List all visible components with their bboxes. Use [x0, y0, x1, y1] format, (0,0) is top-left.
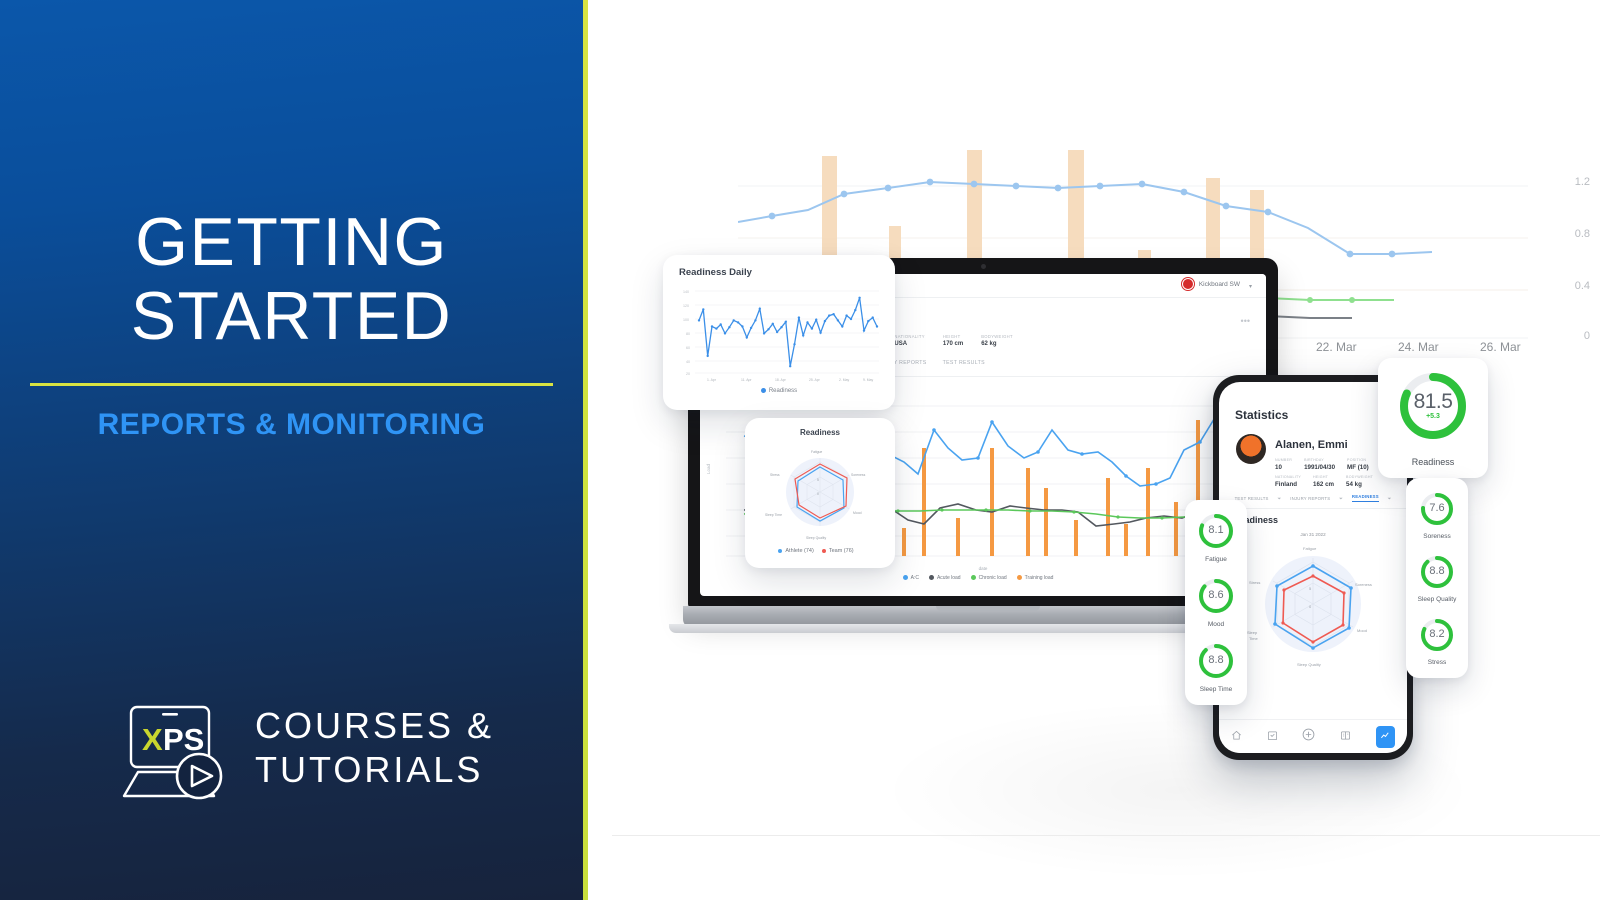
svg-text:140: 140 [683, 290, 689, 294]
readiness-daily-legend: Readiness [663, 388, 895, 394]
svg-text:Stress: Stress [770, 473, 780, 477]
legend-label: Chronic load [979, 575, 1007, 581]
athlete-meta-key: BODYWEIGHT [981, 334, 1013, 339]
lock-icon: ⏷ [1388, 496, 1392, 501]
radar-title: Readiness [745, 428, 895, 437]
athlete-meta-value: USA [894, 341, 924, 347]
page-subtitle: REPORTS & MONITORING [0, 408, 583, 442]
library-icon[interactable] [1340, 728, 1351, 746]
title-divider [30, 383, 553, 386]
phone-meta-value: Finland [1275, 481, 1301, 488]
chart-icon[interactable] [1376, 726, 1395, 748]
phone-meta-key: BODYWEIGHT [1346, 475, 1373, 479]
legend-dot-readiness [761, 388, 766, 393]
radar-legend-item: Athlete (74) [778, 548, 813, 554]
title-block: GETTING STARTED [0, 205, 583, 353]
svg-text:60: 60 [686, 346, 690, 350]
phone-meta-field: HEIGHT162 cm [1313, 475, 1334, 488]
radar-legend-label: Team (76) [829, 548, 854, 554]
athlete-meta-value: 170 cm [943, 341, 963, 347]
left-title-panel: GETTING STARTED REPORTS & MONITORING X P… [0, 0, 583, 900]
lock-icon: ⏷ [1339, 496, 1343, 501]
svg-text:Sleep: Sleep [1247, 630, 1258, 635]
phone-meta-key: NATIONALITY [1275, 475, 1301, 479]
legend-label: A:C [911, 575, 919, 581]
radar-legend: Athlete (74)Team (76) [745, 548, 895, 554]
phone-meta-field: BIRTHDAY1991/04/30 [1304, 458, 1335, 471]
athlete-meta-key: NATIONALITY [894, 334, 924, 339]
main-gauge-label: Readiness [1378, 457, 1488, 467]
svg-text:Fatigue: Fatigue [1303, 546, 1317, 551]
phone-meta-field: POSITIONMF (10) [1347, 458, 1369, 471]
plus-icon[interactable] [1302, 728, 1315, 746]
svg-text:X: X [142, 722, 163, 757]
legend-item: A:C [903, 575, 919, 581]
gauge-label: Soreness [1419, 533, 1455, 540]
calendar-icon[interactable] [1267, 728, 1278, 746]
athlete-meta-value: 62 kg [981, 341, 1013, 347]
svg-text:Time: Time [1249, 636, 1259, 641]
scene-bottom-rule [612, 835, 1600, 836]
phone-meta-key: HEIGHT [1313, 475, 1334, 479]
gauge-item: 8.8Sleep Quality [1418, 554, 1457, 603]
svg-text:5: 5 [817, 478, 819, 482]
athlete-meta-field: HEIGHT170 cm [943, 334, 963, 347]
legend-dot [903, 575, 908, 580]
athlete-meta-field: NATIONALITYUSA [894, 334, 924, 347]
legend-dot [971, 575, 976, 580]
chevron-down-icon[interactable]: ▾ [1249, 283, 1252, 290]
logo-line-2: TUTORIALS [255, 748, 494, 792]
svg-text:120: 120 [683, 304, 689, 308]
gauge-value: 8.6 [1197, 589, 1235, 601]
gauge-label: Sleep Time [1197, 686, 1235, 693]
readiness-daily-plot: 140120100 80604020 1. Apr11. Apr18. Apr … [681, 285, 881, 383]
athlete-meta-key: HEIGHT [943, 334, 963, 339]
svg-text:40: 40 [686, 360, 690, 364]
main-gauge-delta: +5.3 [1378, 413, 1488, 420]
legend-item: Acute load [929, 575, 961, 581]
gauge-item: 8.2Stress [1419, 617, 1455, 666]
main-gauge: 81.5 +5.3 Readiness [1378, 368, 1488, 467]
phone-radar-plot: FatigueSorenessMood Sleep QualitySleepTi… [1247, 538, 1379, 670]
svg-text:Mood: Mood [1357, 628, 1367, 633]
chart-y-axis-label: Load [706, 464, 711, 474]
more-options-icon[interactable]: ••• [1241, 316, 1250, 326]
readiness-radar-card: Readiness FatigueSorenessMood [745, 418, 895, 568]
legend-label: Acute load [937, 575, 961, 581]
home-icon[interactable] [1231, 728, 1242, 746]
bg-xtick-0: 22. Mar [1316, 340, 1357, 354]
bg-ytick-3: 0 [1584, 330, 1590, 342]
phone-meta-field: NATIONALITYFinland [1275, 475, 1301, 488]
team-crest-avatar [1182, 278, 1194, 290]
svg-text:1. Apr: 1. Apr [707, 378, 717, 382]
svg-text:0: 0 [817, 492, 819, 496]
lock-icon: ⏷ [1278, 496, 1282, 501]
legend-dot [822, 549, 826, 553]
svg-text:PS: PS [163, 722, 204, 757]
svg-text:25. Apr: 25. Apr [809, 378, 821, 382]
phone-meta-value: MF (10) [1347, 464, 1369, 471]
logo-line-1: COURSES & [255, 704, 494, 748]
svg-text:9. May: 9. May [863, 378, 873, 382]
legend-label-readiness: Readiness [769, 388, 797, 394]
readiness-daily-svg: 140120100 80604020 1. Apr11. Apr18. Apr … [681, 285, 881, 383]
phone-page-title: Statistics [1235, 408, 1288, 422]
svg-text:18. Apr: 18. Apr [775, 378, 787, 382]
phone-meta-field: BODYWEIGHT54 kg [1346, 475, 1373, 488]
bg-ytick-2: 0.4 [1575, 280, 1590, 292]
svg-text:Soreness: Soreness [1355, 582, 1372, 587]
phone-athlete-avatar [1236, 434, 1266, 464]
page-title-line2: STARTED [0, 279, 583, 353]
gauge-item: 8.8Sleep Time [1197, 642, 1235, 693]
legend-dot [1017, 575, 1022, 580]
phone-tab-injury-reports[interactable]: INJURY REPORTS [1290, 496, 1330, 501]
product-showcase-scene: 1.2 0.8 0.4 0 A:C 22. Mar 24. Mar 26. Ma… [588, 0, 1600, 900]
phone-tab-readiness[interactable]: READINESS [1352, 494, 1379, 502]
xps-laptop-logo-icon: X PS [118, 700, 238, 804]
phone-meta-value: 10 [1275, 464, 1292, 471]
phone-meta-key: NUMBER [1275, 458, 1292, 462]
user-menu-label[interactable]: Kickboard SW [1199, 281, 1240, 288]
gauge-item: 7.6Soreness [1419, 491, 1455, 540]
gauge-label: Mood [1197, 621, 1235, 628]
page-title-line1: GETTING [0, 205, 583, 279]
gauge-label: Stress [1419, 659, 1455, 666]
svg-text:Soreness: Soreness [851, 473, 866, 477]
svg-text:Fatigue: Fatigue [811, 450, 822, 454]
legend-label: Training load [1025, 575, 1054, 581]
athlete-meta-field: BODYWEIGHT62 kg [981, 334, 1013, 347]
radar-legend-item: Team (76) [822, 548, 854, 554]
main-gauge-value: 81.5 [1378, 390, 1488, 414]
gauge-label: Fatigue [1197, 556, 1235, 563]
phone-bottom-nav [1219, 719, 1407, 753]
svg-text:Sleep Quality: Sleep Quality [806, 536, 826, 540]
legend-dot [778, 549, 782, 553]
svg-text:80: 80 [686, 332, 690, 336]
phone-athlete-name: Alanen, Emmi [1275, 439, 1348, 451]
gauge-item: 8.1Fatigue [1197, 512, 1235, 563]
legend-item: Training load [1017, 575, 1054, 581]
phone-athlete-meta-row-2: NATIONALITYFinlandHEIGHT162 cmBODYWEIGHT… [1275, 475, 1373, 488]
svg-text:100: 100 [683, 318, 689, 322]
svg-text:Mood: Mood [853, 511, 862, 515]
phone-meta-key: POSITION [1347, 458, 1369, 462]
gauge-value: 8.1 [1197, 524, 1235, 536]
slide-canvas: GETTING STARTED REPORTS & MONITORING X P… [0, 0, 1600, 900]
svg-text:11. Apr: 11. Apr [741, 378, 752, 382]
radar-legend-label: Athlete (74) [785, 548, 813, 554]
gauge-value: 8.8 [1197, 654, 1235, 666]
right-gauge-stack: 7.6Soreness8.8Sleep Quality8.2Stress [1406, 478, 1468, 678]
phone-meta-value: 54 kg [1346, 481, 1373, 488]
gauge-item: 8.6Mood [1197, 577, 1235, 628]
gauge-value: 7.6 [1419, 502, 1455, 514]
laptop-notch [936, 606, 1040, 611]
phone-meta-value: 162 cm [1313, 481, 1334, 488]
phone-meta-field: NUMBER10 [1275, 458, 1292, 471]
svg-text:Stress: Stress [1249, 580, 1260, 585]
phone-athlete-meta-row-1: NUMBER10BIRTHDAY1991/04/30POSITIONMF (10… [1275, 458, 1369, 471]
gauge-value: 8.8 [1418, 565, 1457, 577]
svg-text:Sleep Quality: Sleep Quality [1297, 662, 1321, 667]
legend-item: Chronic load [971, 575, 1007, 581]
svg-text:20: 20 [686, 372, 690, 376]
chart-legend: A:CAcute loadChronic loadTraining load [700, 575, 1266, 581]
brand-logo: X PS COURSES & TUTORIALS [118, 700, 538, 810]
bg-ytick-0: 1.2 [1575, 176, 1590, 188]
phone-meta-value: 1991/04/30 [1304, 464, 1335, 471]
left-gauge-stack: 8.1Fatigue8.6Mood8.8Sleep Time [1185, 500, 1247, 705]
readiness-score-card: 81.5 +5.3 Readiness [1378, 358, 1488, 478]
phone-readiness-date: Jan 31 2022 [1219, 532, 1407, 537]
brand-logo-text: COURSES & TUTORIALS [255, 704, 494, 792]
tab-test-results[interactable]: TEST RESULTS [943, 360, 985, 372]
radar-plot: FatigueSorenessMood Sleep QualitySleep T… [765, 440, 875, 544]
readiness-daily-title: Readiness Daily [679, 267, 752, 278]
gauge-value: 8.2 [1419, 628, 1455, 640]
bg-xtick-1: 24. Mar [1398, 340, 1439, 354]
phone-tabs: TEST RESULTS⏷INJURY REPORTS⏷READINESS⏷ [1219, 494, 1407, 502]
legend-dot [929, 575, 934, 580]
gauge-label: Sleep Quality [1418, 596, 1457, 603]
phone-radar-svg: FatigueSorenessMood Sleep QualitySleepTi… [1247, 538, 1379, 670]
phone-tab-test-results[interactable]: TEST RESULTS [1235, 496, 1269, 501]
phone-meta-key: BIRTHDAY [1304, 458, 1335, 462]
svg-text:2. May: 2. May [839, 378, 849, 382]
bg-xtick-2: 26. Mar [1480, 340, 1521, 354]
phone-tab-divider [1219, 508, 1407, 509]
radar-svg: FatigueSorenessMood Sleep QualitySleep T… [765, 440, 875, 544]
webcam-icon [981, 264, 986, 269]
svg-text:Sleep Time: Sleep Time [765, 513, 782, 517]
bg-ytick-1: 0.8 [1575, 228, 1590, 240]
readiness-daily-card: Readiness Daily 140120100 80604020 [663, 255, 895, 410]
